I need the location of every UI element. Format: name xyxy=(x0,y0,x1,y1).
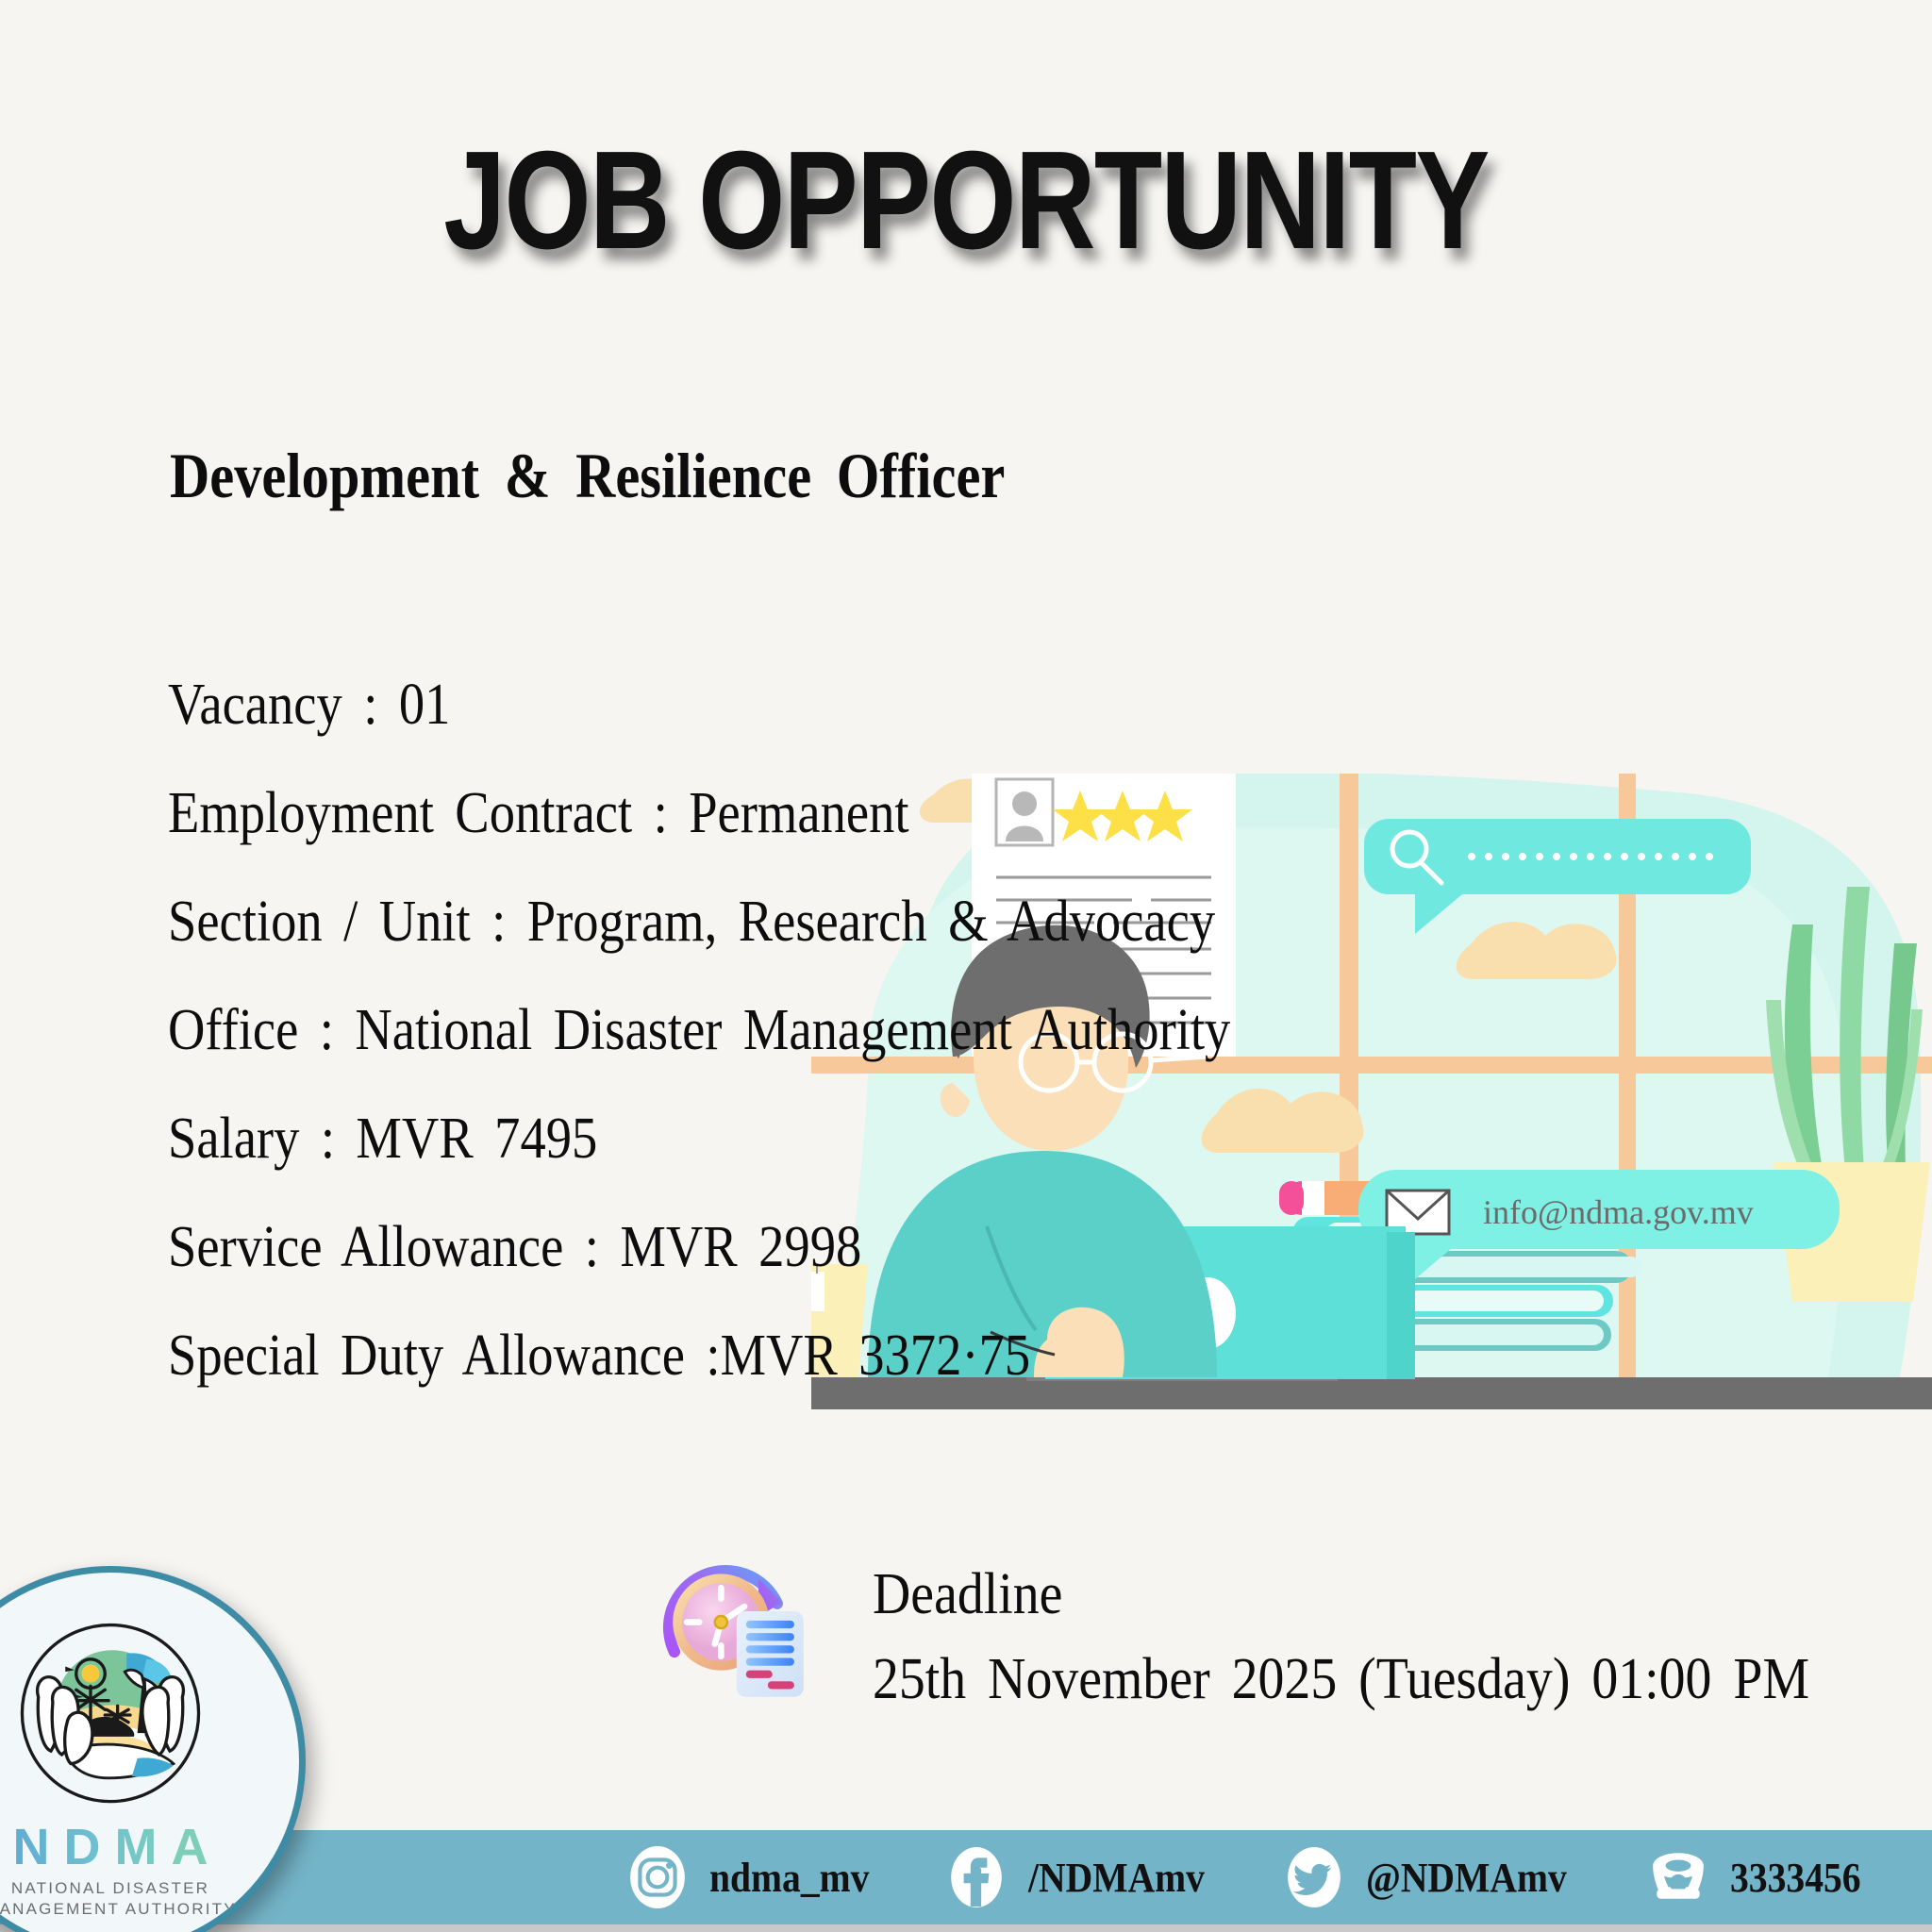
twitter-handle[interactable]: @NDMAmv xyxy=(1366,1854,1567,1902)
detail-special-duty-allowance: Special Duty Allowance :MVR 3372·75 xyxy=(168,1302,1230,1410)
deadline-date: 25th November 2025 (Tuesday) 01:00 PM xyxy=(873,1634,1809,1724)
detail-employment-contract: Employment Contract : Permanent xyxy=(168,759,1230,868)
facebook-handle[interactable]: /NDMAmv xyxy=(1028,1854,1205,1902)
twitter-icon[interactable] xyxy=(1283,1846,1345,1908)
logo-subtitle-line2: MANAGEMENT AUTHORITY xyxy=(0,1899,237,1920)
instagram-icon[interactable] xyxy=(626,1846,689,1908)
page-title: JOB OPPORTUNITY xyxy=(193,121,1739,281)
facebook-icon[interactable] xyxy=(945,1846,1008,1908)
job-opportunity-poster: JOB OPPORTUNITY Development & Resilience… xyxy=(0,0,1932,1932)
social-twitter[interactable]: @NDMAmv xyxy=(1283,1846,1589,1908)
social-phone[interactable]: 3333456 xyxy=(1647,1846,1875,1908)
social-facebook[interactable]: /NDMAmv xyxy=(945,1846,1224,1908)
logo-acronym: NDMA xyxy=(0,1818,222,1876)
detail-section-unit: Section / Unit : Program, Research & Adv… xyxy=(168,868,1230,976)
clock-document-icon xyxy=(660,1557,816,1723)
deadline-label: Deadline xyxy=(873,1555,1809,1634)
ndma-island-hands-icon xyxy=(11,1616,209,1814)
instagram-handle[interactable]: ndma_mv xyxy=(709,1854,869,1902)
phone-number[interactable]: 3333456 xyxy=(1730,1854,1861,1902)
ndma-logo-badge: NDMA NATIONAL DISASTER MANAGEMENT AUTHOR… xyxy=(0,1566,306,1932)
detail-service-allowance: Service Allowance : MVR 2998 xyxy=(168,1193,1230,1302)
deadline-block: Deadline 25th November 2025 (Tuesday) 01… xyxy=(660,1555,1913,1724)
job-details-list: Vacancy : 01 Employment Contract : Perma… xyxy=(168,651,1375,1410)
email-text: info@ndma.gov.mv xyxy=(1483,1193,1754,1231)
social-instagram[interactable]: ndma_mv xyxy=(626,1846,887,1908)
detail-salary: Salary : MVR 7495 xyxy=(168,1085,1230,1193)
job-position-title: Development & Resilience Officer xyxy=(170,439,1005,513)
phone-icon[interactable] xyxy=(1647,1846,1709,1908)
detail-office: Office : National Disaster Management Au… xyxy=(168,976,1230,1085)
logo-subtitle-line1: NATIONAL DISASTER xyxy=(0,1878,237,1899)
detail-vacancy: Vacancy : 01 xyxy=(168,651,1230,759)
